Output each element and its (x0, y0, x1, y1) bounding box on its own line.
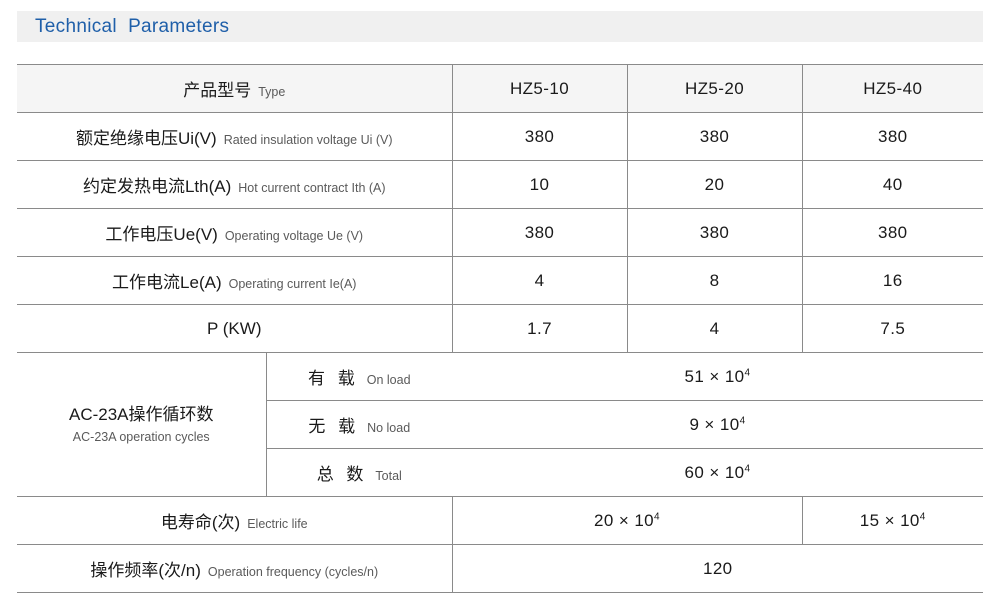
row-label-operating-voltage: 工作电压Ue(V) Operating voltage Ue (V) (17, 209, 452, 257)
sub-label-en: No load (367, 421, 410, 435)
row-label-en: Hot current contract Ith (A) (238, 181, 385, 195)
value-exponent: 4 (745, 367, 751, 378)
value-text: 60 × 104 (685, 463, 751, 482)
row-label-en: Operation frequency (cycles/n) (208, 565, 378, 579)
header-cell-type: 产品型号 Type (17, 65, 452, 113)
table-row: AC-23A操作循环数 AC-23A operation cycles 有 载 … (17, 353, 983, 401)
value-base: 20 × 10 (594, 511, 654, 530)
value-text: 120 (703, 559, 733, 578)
row-label-rated-insulation-voltage: 额定绝缘电压Ui(V) Rated insulation voltage Ui … (17, 113, 452, 161)
cell-value: 380 (627, 113, 802, 161)
row-label-en: Electric life (247, 517, 307, 531)
cell-value: 380 (627, 209, 802, 257)
model-label-2: HZ5-20 (685, 79, 744, 98)
header-cell-model-1: HZ5-10 (452, 65, 627, 113)
model-label-3: HZ5-40 (863, 79, 922, 98)
row-label-cn: 电寿命(次) (161, 508, 240, 533)
value-text: 7.5 (880, 319, 905, 338)
sub-label-en: On load (367, 373, 411, 387)
table-row: 电寿命(次) Electric life 20 × 104 15 × 104 (17, 497, 983, 545)
row-label-cn: 工作电流Le(A) (112, 268, 222, 293)
value-base: 51 × 10 (685, 367, 745, 386)
row-label-ac23a-operation-cycles: AC-23A操作循环数 AC-23A operation cycles (17, 353, 266, 497)
cell-value: 4 (452, 257, 627, 305)
value-text: 4 (535, 271, 545, 290)
table-row: P (KW) 1.7 4 7.5 (17, 305, 983, 353)
row-label-electric-life: 电寿命(次) Electric life (17, 497, 452, 545)
sub-row-label-on-load: 有 载 On load (266, 353, 452, 401)
value-base: 15 × 10 (860, 511, 920, 530)
sub-row-label-no-load: 无 载 No load (266, 401, 452, 449)
value-text: 380 (700, 127, 730, 146)
value-text: 380 (878, 223, 908, 242)
value-text: 9 × 104 (689, 415, 745, 434)
row-label-power-kw: P (KW) (17, 305, 452, 353)
value-base: 60 × 10 (685, 463, 745, 482)
value-text: 4 (710, 319, 720, 338)
cell-value: 20 × 104 (452, 497, 802, 545)
cell-value: 10 (452, 161, 627, 209)
value-text: 380 (700, 223, 730, 242)
table-row: 额定绝缘电压Ui(V) Rated insulation voltage Ui … (17, 113, 983, 161)
value-exponent: 4 (920, 511, 926, 522)
value-text: 20 (705, 175, 725, 194)
model-label-1: HZ5-10 (510, 79, 569, 98)
header-cell-model-3: HZ5-40 (802, 65, 983, 113)
group-label-en: AC-23A operation cycles (73, 428, 210, 446)
table-row: 操作频率(次/n) Operation frequency (cycles/n)… (17, 545, 983, 593)
value-exponent: 4 (740, 415, 746, 426)
sub-row-label-total: 总 数 Total (266, 449, 452, 497)
cell-value: 8 (627, 257, 802, 305)
row-label-en: Operating voltage Ue (V) (225, 229, 363, 243)
row-label-operating-current: 工作电流Le(A) Operating current Ie(A) (17, 257, 452, 305)
value-text: 1.7 (527, 319, 552, 338)
row-label-cn: 工作电压Ue(V) (105, 220, 217, 245)
cell-value: 380 (452, 113, 627, 161)
cell-value: 380 (802, 113, 983, 161)
page-title: Technical Parameters (17, 16, 229, 38)
cell-value: 40 (802, 161, 983, 209)
technical-parameters-table-wrapper: 产品型号 Type HZ5-10 HZ5-20 HZ5-40 额定绝缘电压Ui(… (17, 64, 983, 593)
cell-value: 16 (802, 257, 983, 305)
cell-value: 380 (802, 209, 983, 257)
value-text: 16 (883, 271, 903, 290)
group-label-cn: AC-23A操作循环数 (69, 403, 214, 428)
cell-value: 4 (627, 305, 802, 353)
row-label-en: Rated insulation voltage Ui (V) (224, 133, 393, 147)
row-label-cn: P (KW) (207, 319, 261, 339)
technical-parameters-table: 产品型号 Type HZ5-10 HZ5-20 HZ5-40 额定绝缘电压Ui(… (17, 64, 983, 593)
value-text: 40 (883, 175, 903, 194)
table-row: 工作电流Le(A) Operating current Ie(A) 4 8 16 (17, 257, 983, 305)
value-exponent: 4 (654, 511, 660, 522)
header-type-en: Type (258, 85, 285, 99)
cell-value: 9 × 104 (452, 401, 983, 449)
sub-label-cn: 有 载 (308, 364, 359, 389)
value-text: 10 (530, 175, 550, 194)
section-title-band: Technical Parameters (17, 11, 983, 42)
sub-label-cn: 总 数 (317, 460, 368, 485)
cell-value: 60 × 104 (452, 449, 983, 497)
value-text: 8 (710, 271, 720, 290)
value-exponent: 4 (745, 463, 751, 474)
value-text: 15 × 104 (860, 511, 926, 530)
table-header-row: 产品型号 Type HZ5-10 HZ5-20 HZ5-40 (17, 65, 983, 113)
cell-value: 51 × 104 (452, 353, 983, 401)
value-text: 51 × 104 (685, 367, 751, 386)
value-base: 9 × 10 (689, 415, 739, 434)
cell-value: 380 (452, 209, 627, 257)
sub-label-cn: 无 载 (308, 412, 359, 437)
value-text: 20 × 104 (594, 511, 660, 530)
table-row: 约定发热电流Lth(A) Hot current contract Ith (A… (17, 161, 983, 209)
cell-value: 1.7 (452, 305, 627, 353)
table-row: 工作电压Ue(V) Operating voltage Ue (V) 380 3… (17, 209, 983, 257)
sub-label-en: Total (375, 469, 401, 483)
cell-value: 15 × 104 (802, 497, 983, 545)
cell-value: 120 (452, 545, 983, 593)
row-label-en: Operating current Ie(A) (229, 277, 357, 291)
row-label-operation-frequency: 操作频率(次/n) Operation frequency (cycles/n) (17, 545, 452, 593)
row-label-cn: 操作频率(次/n) (90, 556, 201, 581)
row-label-cn: 额定绝缘电压Ui(V) (76, 124, 217, 149)
value-text: 380 (878, 127, 908, 146)
value-text: 380 (525, 223, 555, 242)
header-cell-model-2: HZ5-20 (627, 65, 802, 113)
cell-value: 7.5 (802, 305, 983, 353)
cell-value: 20 (627, 161, 802, 209)
row-label-cn: 约定发热电流Lth(A) (83, 172, 231, 197)
row-label-hot-current-contract: 约定发热电流Lth(A) Hot current contract Ith (A… (17, 161, 452, 209)
header-type-cn: 产品型号 (183, 76, 251, 101)
value-text: 380 (525, 127, 555, 146)
